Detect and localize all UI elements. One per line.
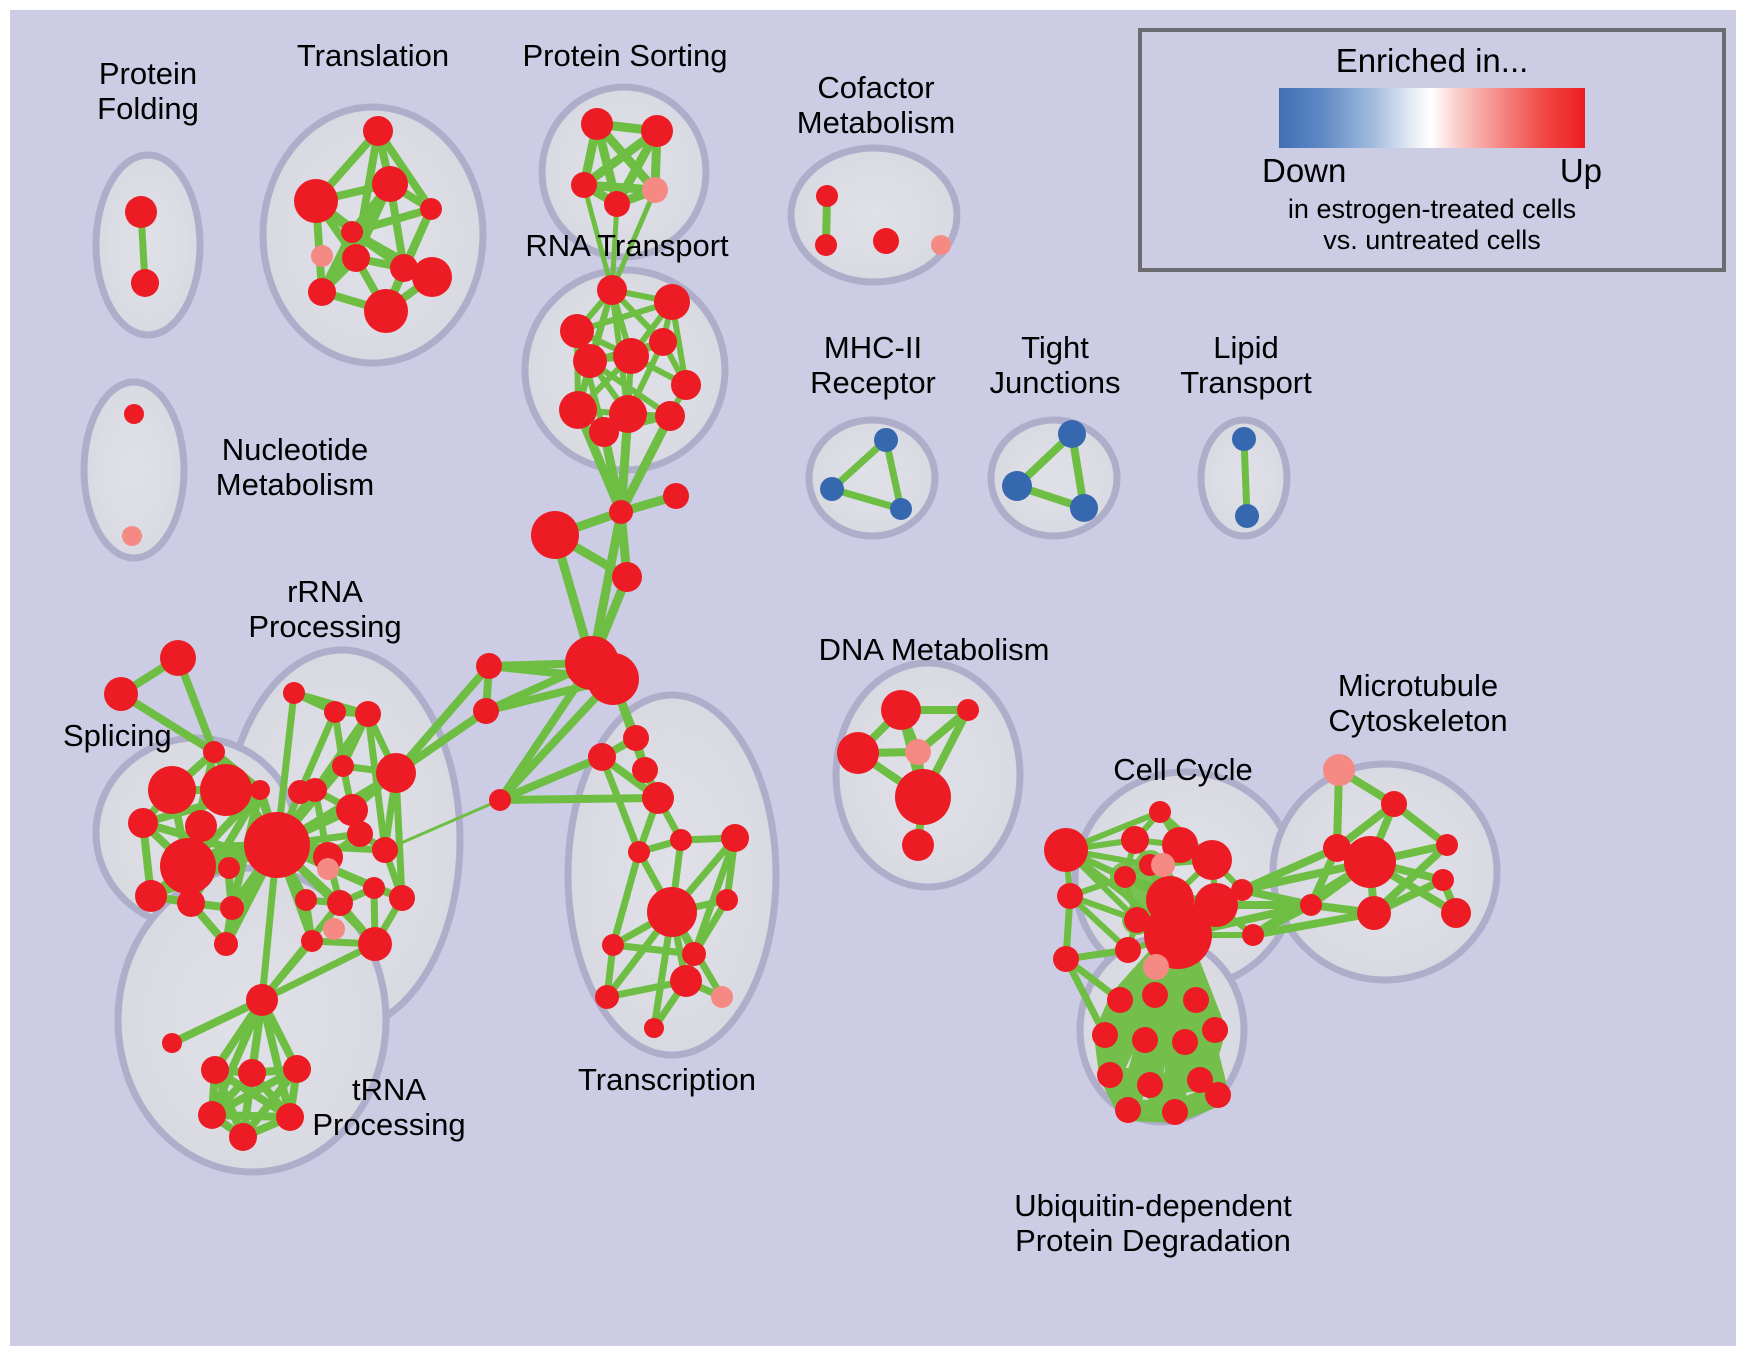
node (301, 930, 323, 952)
node (1183, 987, 1209, 1013)
node (324, 701, 346, 723)
node (623, 725, 649, 751)
node (902, 829, 934, 861)
node (148, 766, 196, 814)
node (124, 404, 144, 424)
cluster-label-lipid-transport: Lipid Transport (1160, 330, 1332, 400)
node (1143, 954, 1169, 980)
node (602, 934, 624, 956)
node (571, 172, 597, 198)
node (128, 808, 158, 838)
node (1344, 836, 1396, 888)
node (1057, 883, 1083, 909)
node (560, 314, 594, 348)
node (473, 698, 499, 724)
node (1357, 896, 1391, 930)
node (131, 269, 159, 297)
node (363, 877, 385, 899)
node (671, 370, 701, 400)
node (389, 885, 415, 911)
node (815, 234, 837, 256)
node (342, 244, 370, 272)
node (589, 417, 619, 447)
node (531, 511, 579, 559)
node (816, 185, 838, 207)
node (1137, 1072, 1163, 1098)
cluster-label-protein-folding: Protein Folding (78, 56, 218, 126)
node (364, 289, 408, 333)
node (1192, 840, 1232, 880)
node (420, 198, 442, 220)
node (1436, 834, 1458, 856)
node (372, 837, 398, 863)
node (376, 753, 416, 793)
node (160, 640, 196, 676)
node (1114, 866, 1136, 888)
node (412, 257, 452, 297)
node (308, 278, 336, 306)
node (642, 177, 668, 203)
node (641, 115, 673, 147)
cluster-label-trna-processing: tRNA Processing (300, 1072, 478, 1142)
node (201, 1056, 229, 1084)
node (682, 942, 706, 966)
node (372, 166, 408, 202)
node (837, 732, 879, 774)
node (332, 755, 354, 777)
node (1115, 937, 1141, 963)
node (644, 1018, 664, 1038)
node (881, 690, 921, 730)
node (874, 428, 898, 452)
cluster-label-splicing: Splicing (63, 718, 172, 753)
node (655, 401, 685, 431)
node (1162, 1099, 1188, 1125)
node (218, 857, 240, 879)
legend-color-gradient (1279, 88, 1585, 148)
cluster-label-dna-metabolism: DNA Metabolism (806, 632, 1062, 667)
node (347, 821, 373, 847)
node (104, 677, 138, 711)
node (220, 896, 244, 920)
node (323, 918, 345, 940)
node (1132, 1027, 1158, 1053)
node (295, 889, 317, 911)
node (647, 887, 697, 937)
legend-up-label: Up (1560, 152, 1602, 190)
node (612, 562, 642, 592)
node (1058, 420, 1086, 448)
node (1044, 828, 1088, 872)
node (122, 526, 142, 546)
node (283, 682, 305, 704)
legend-panel: Enriched in... Down Up in estrogen-treat… (1138, 28, 1726, 272)
node (957, 699, 979, 721)
node (1172, 1029, 1198, 1055)
node (1151, 853, 1175, 877)
node (721, 824, 749, 852)
node (203, 741, 225, 763)
node (931, 235, 951, 255)
node (1115, 1097, 1141, 1123)
legend-subtitle-line1: in estrogen-treated cells (1288, 194, 1576, 225)
node (873, 228, 899, 254)
node (905, 739, 931, 765)
node (1142, 982, 1168, 1008)
node (711, 986, 733, 1008)
node (177, 889, 205, 917)
node (358, 927, 392, 961)
node (587, 653, 639, 705)
node (489, 789, 511, 811)
node (1441, 898, 1471, 928)
node (654, 284, 690, 320)
figure-root: Protein Folding Translation Protein Sort… (0, 0, 1750, 1360)
node (355, 701, 381, 727)
node (1097, 1062, 1123, 1088)
node (1242, 924, 1264, 946)
node (609, 500, 633, 524)
node (1432, 869, 1454, 891)
cluster-label-nucleotide-metabolism: Nucleotide Metabolism (190, 432, 400, 502)
node (214, 932, 238, 956)
node (341, 221, 363, 243)
node (317, 858, 339, 880)
node (336, 794, 368, 826)
node (716, 889, 738, 911)
node (628, 841, 650, 863)
node (573, 344, 607, 378)
node (1070, 494, 1098, 522)
node (559, 391, 597, 429)
node (476, 653, 502, 679)
cluster-label-cell-cycle: Cell Cycle (1100, 752, 1266, 787)
node (135, 880, 167, 912)
node (1232, 427, 1256, 451)
node (303, 778, 327, 802)
node (649, 328, 677, 356)
cluster-label-cofactor-metabolism: Cofactor Metabolism (768, 70, 984, 140)
node (160, 838, 216, 894)
node (250, 780, 270, 800)
node (1092, 1022, 1118, 1048)
cluster-label-protein-sorting: Protein Sorting (500, 38, 750, 73)
legend-title: Enriched in... (1336, 42, 1529, 80)
node (198, 1101, 226, 1129)
node (1053, 946, 1079, 972)
node (229, 1123, 257, 1151)
legend-endpoints: Down Up (1262, 152, 1602, 190)
node (200, 764, 252, 816)
node (363, 116, 393, 146)
node (311, 245, 333, 267)
node (1149, 801, 1171, 823)
node (895, 769, 951, 825)
node (604, 191, 630, 217)
node (1381, 791, 1407, 817)
node (1205, 1082, 1231, 1108)
cluster-label-mhc-ii-receptor: MHC-II Receptor (790, 330, 956, 400)
cluster-label-ubiquitin: Ubiquitin-dependent Protein Degradation (978, 1188, 1328, 1258)
node (1202, 1017, 1228, 1043)
node (185, 810, 217, 842)
cluster-ellipse-cofactor-metabolism (791, 148, 957, 282)
node (670, 829, 692, 851)
node (162, 1033, 182, 1053)
node (820, 477, 844, 501)
node (294, 179, 338, 223)
node (125, 196, 157, 228)
cluster-label-transcription: Transcription (578, 1062, 756, 1097)
node (327, 890, 353, 916)
node (1121, 826, 1149, 854)
node (663, 483, 689, 509)
node (1107, 987, 1133, 1013)
node (632, 757, 658, 783)
node (597, 275, 627, 305)
legend-subtitle-line2: vs. untreated cells (1323, 225, 1541, 256)
node (1323, 754, 1355, 786)
node (595, 985, 619, 1009)
node (642, 782, 674, 814)
node (588, 743, 616, 771)
node (1231, 879, 1253, 901)
node (238, 1059, 266, 1087)
node (581, 108, 613, 140)
node (1300, 894, 1322, 916)
cluster-label-microtubule: Microtubule Cytoskeleton (1300, 668, 1536, 738)
node (1002, 471, 1032, 501)
node (613, 338, 649, 374)
cluster-label-translation: Translation (258, 38, 488, 73)
cluster-label-rrna-processing: rRNA Processing (232, 574, 418, 644)
legend-down-label: Down (1262, 152, 1346, 190)
node (670, 965, 702, 997)
cluster-label-tight-junctions: Tight Junctions (968, 330, 1142, 400)
node (246, 984, 278, 1016)
node (244, 812, 310, 878)
cluster-label-rna-transport: RNA Transport (512, 228, 742, 263)
cluster-ellipse-protein-folding (96, 155, 200, 335)
node (890, 498, 912, 520)
node (1235, 504, 1259, 528)
